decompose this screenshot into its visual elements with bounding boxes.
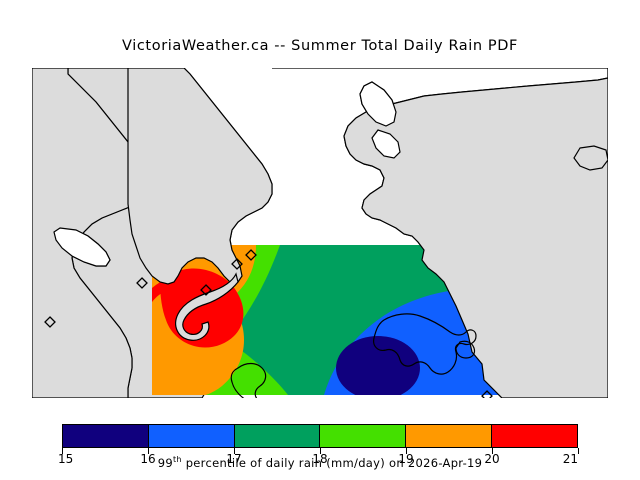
colorbar-segment-20-21[interactable] [492, 425, 577, 447]
map-svg [32, 68, 608, 398]
colorbar-strip[interactable] [62, 424, 578, 448]
contour-band-15-16 [336, 336, 420, 398]
caption-superscript: th [173, 455, 182, 464]
colorbar-segment-19-20[interactable] [406, 425, 492, 447]
caption-prefix: 99 [158, 456, 173, 470]
page-title: VictoriaWeather.ca -- Summer Total Daily… [0, 38, 640, 54]
caption-suffix: percentile of daily rain (mm/day) on 202… [182, 456, 483, 470]
colorbar-segment-17-18[interactable] [235, 425, 321, 447]
weather-map-page: VictoriaWeather.ca -- Summer Total Daily… [0, 0, 640, 480]
colorbar-segment-15-16[interactable] [63, 425, 149, 447]
colorbar-caption: 99th percentile of daily rain (mm/day) o… [0, 455, 640, 470]
map-panel[interactable] [32, 68, 608, 398]
colorbar[interactable]: 15161718192021 [62, 424, 578, 448]
colorbar-segment-18-19[interactable] [320, 425, 406, 447]
colorbar-segment-16-17[interactable] [149, 425, 235, 447]
